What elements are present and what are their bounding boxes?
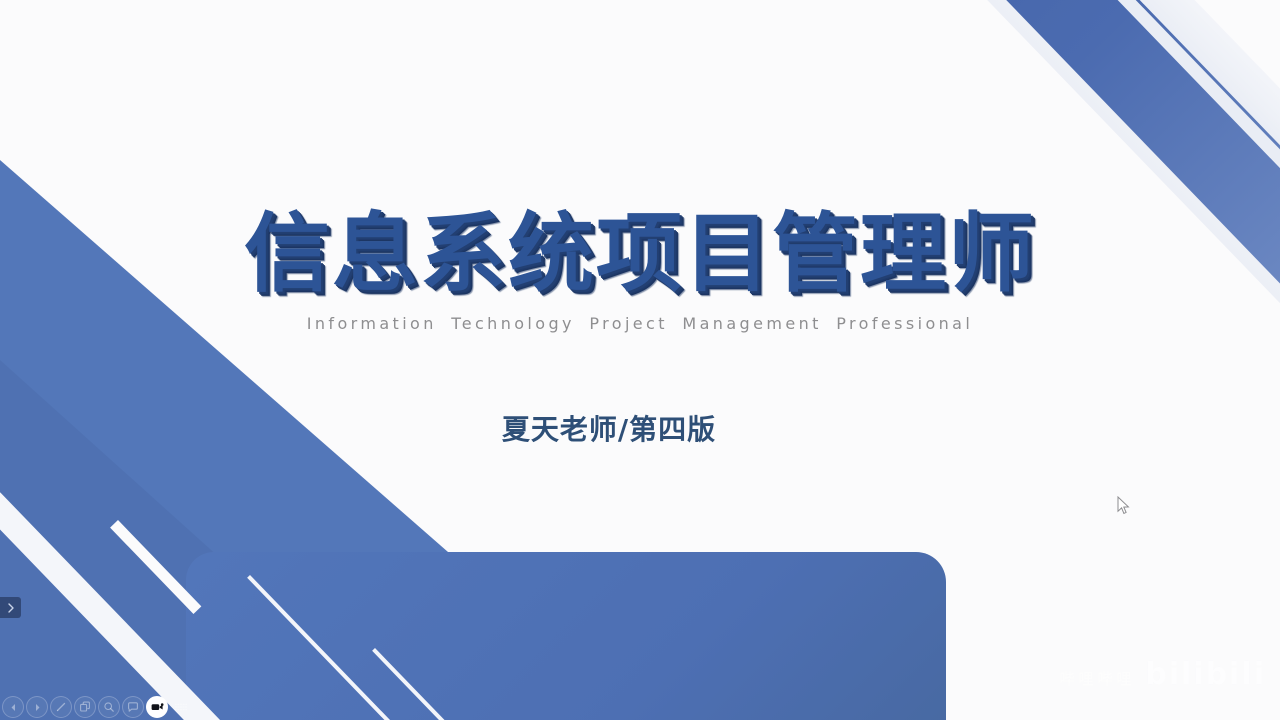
duplicate-icon xyxy=(79,701,91,713)
comment-button[interactable] xyxy=(122,696,144,718)
watermark-chinese: 哔哩哔哩 xyxy=(1059,670,1135,688)
decor-white-diagonal-stripe xyxy=(0,430,662,720)
sidebar-toggle-button[interactable] xyxy=(0,597,21,618)
slide-canvas: 信息系统项目管理师 Information Technology Project… xyxy=(0,0,1280,720)
decor-white-notch xyxy=(110,520,201,614)
pen-button[interactable] xyxy=(50,696,72,718)
more-options-icon xyxy=(174,702,188,713)
magnifier-icon xyxy=(103,701,115,713)
decor-white-thin-stripe-2 xyxy=(372,648,479,720)
page-subtitle-english: Information Technology Project Managemen… xyxy=(0,314,1280,333)
duplicate-button[interactable] xyxy=(74,696,96,718)
decor-white-thin-stripe-1 xyxy=(247,575,458,720)
author-edition-label: 夏天老师/第四版 xyxy=(0,408,1280,448)
pen-icon xyxy=(55,701,67,713)
video-camera-icon xyxy=(150,700,164,714)
next-slide-icon xyxy=(32,702,43,713)
previous-slide-button[interactable] xyxy=(2,696,24,718)
mouse-pointer-icon xyxy=(1117,496,1131,516)
chevron-right-icon xyxy=(7,603,15,613)
record-button[interactable] xyxy=(146,696,168,718)
watermark-english: bilibili xyxy=(1145,657,1266,692)
decor-rounded-blue-slab xyxy=(186,552,946,720)
watermark: 哔哩哔哩bilibili xyxy=(1059,657,1266,692)
zoom-button[interactable] xyxy=(98,696,120,718)
player-toolbar[interactable] xyxy=(0,694,192,720)
more-options-button[interactable] xyxy=(170,696,192,718)
comment-icon xyxy=(127,701,139,713)
next-slide-button[interactable] xyxy=(26,696,48,718)
page-title: 信息系统项目管理师 xyxy=(0,206,1280,302)
previous-slide-icon xyxy=(8,702,19,713)
title-block: 信息系统项目管理师 Information Technology Project… xyxy=(0,206,1280,333)
